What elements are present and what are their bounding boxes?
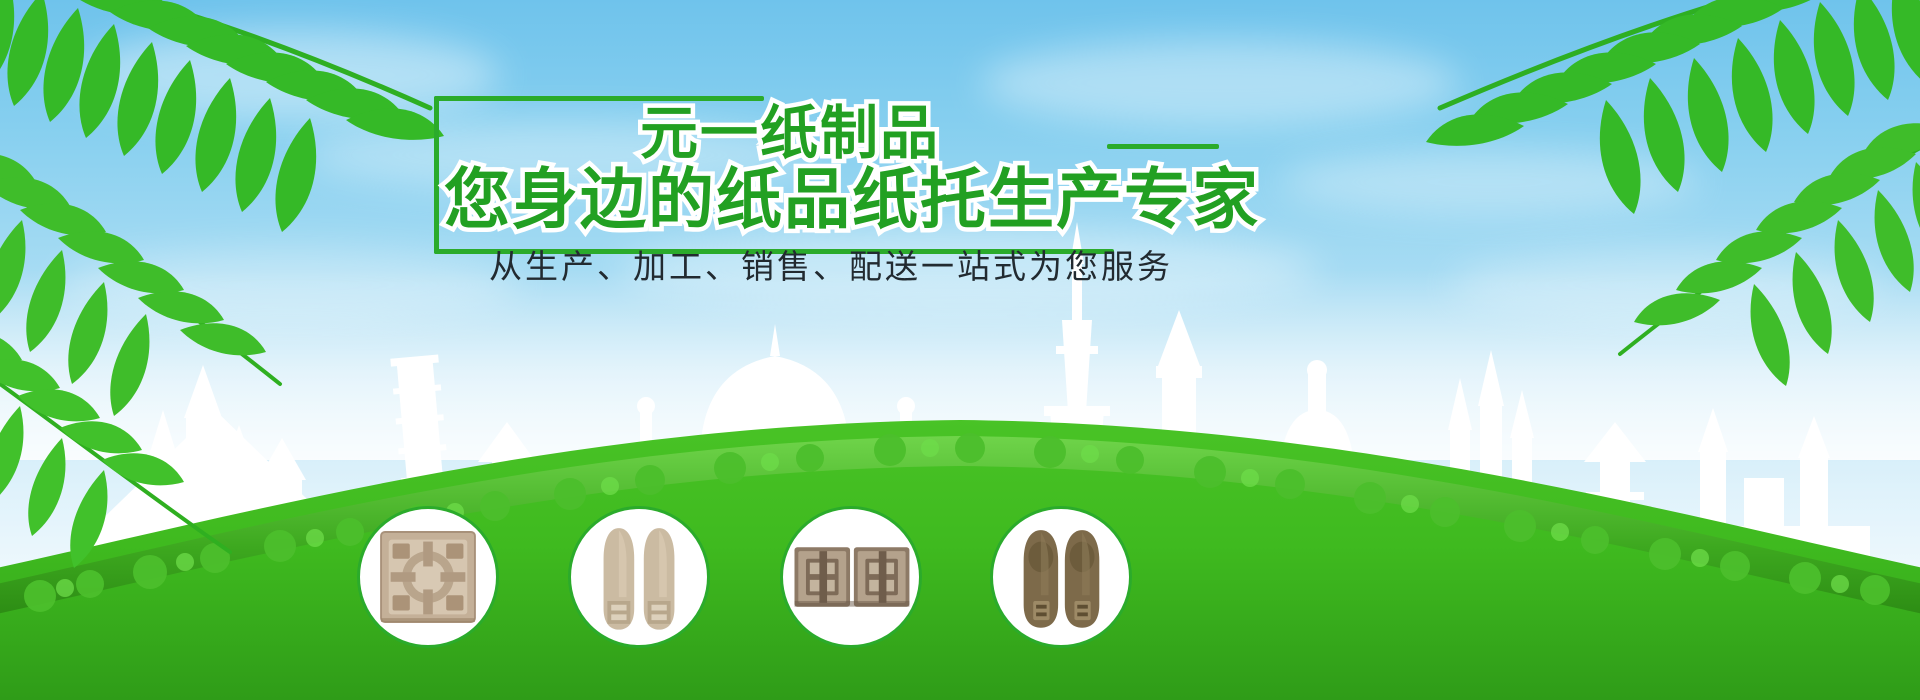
- shoe-insert-pair-icon: [571, 509, 707, 645]
- product-circle-square-pulp-tray[interactable]: [357, 506, 499, 648]
- frame-line-left: [434, 96, 439, 254]
- tagline: 从生产、加工、销售、配送一站式为您服务: [489, 240, 1173, 288]
- promo-banner: 元一纸制品 您身边的纸品纸托生产专家 从生产、加工、销售、配送一站式为您服务: [0, 0, 1920, 700]
- square-pulp-tray-icon: [360, 509, 496, 645]
- dark-shoe-inserts-icon: [993, 509, 1129, 645]
- product-circle-shoe-insert-pair[interactable]: [568, 506, 710, 648]
- headline-block: 元一纸制品 您身边的纸品纸托生产专家: [434, 96, 1134, 224]
- palm-leaf-icon: [1560, 120, 1920, 420]
- product-circle-paired-pulp-trays[interactable]: [780, 506, 922, 648]
- paired-pulp-trays-icon: [783, 509, 919, 645]
- page-title: 您身边的纸品纸托生产专家: [444, 146, 1260, 242]
- product-circle-dark-shoe-inserts[interactable]: [990, 506, 1132, 648]
- product-showcase: [0, 440, 1920, 700]
